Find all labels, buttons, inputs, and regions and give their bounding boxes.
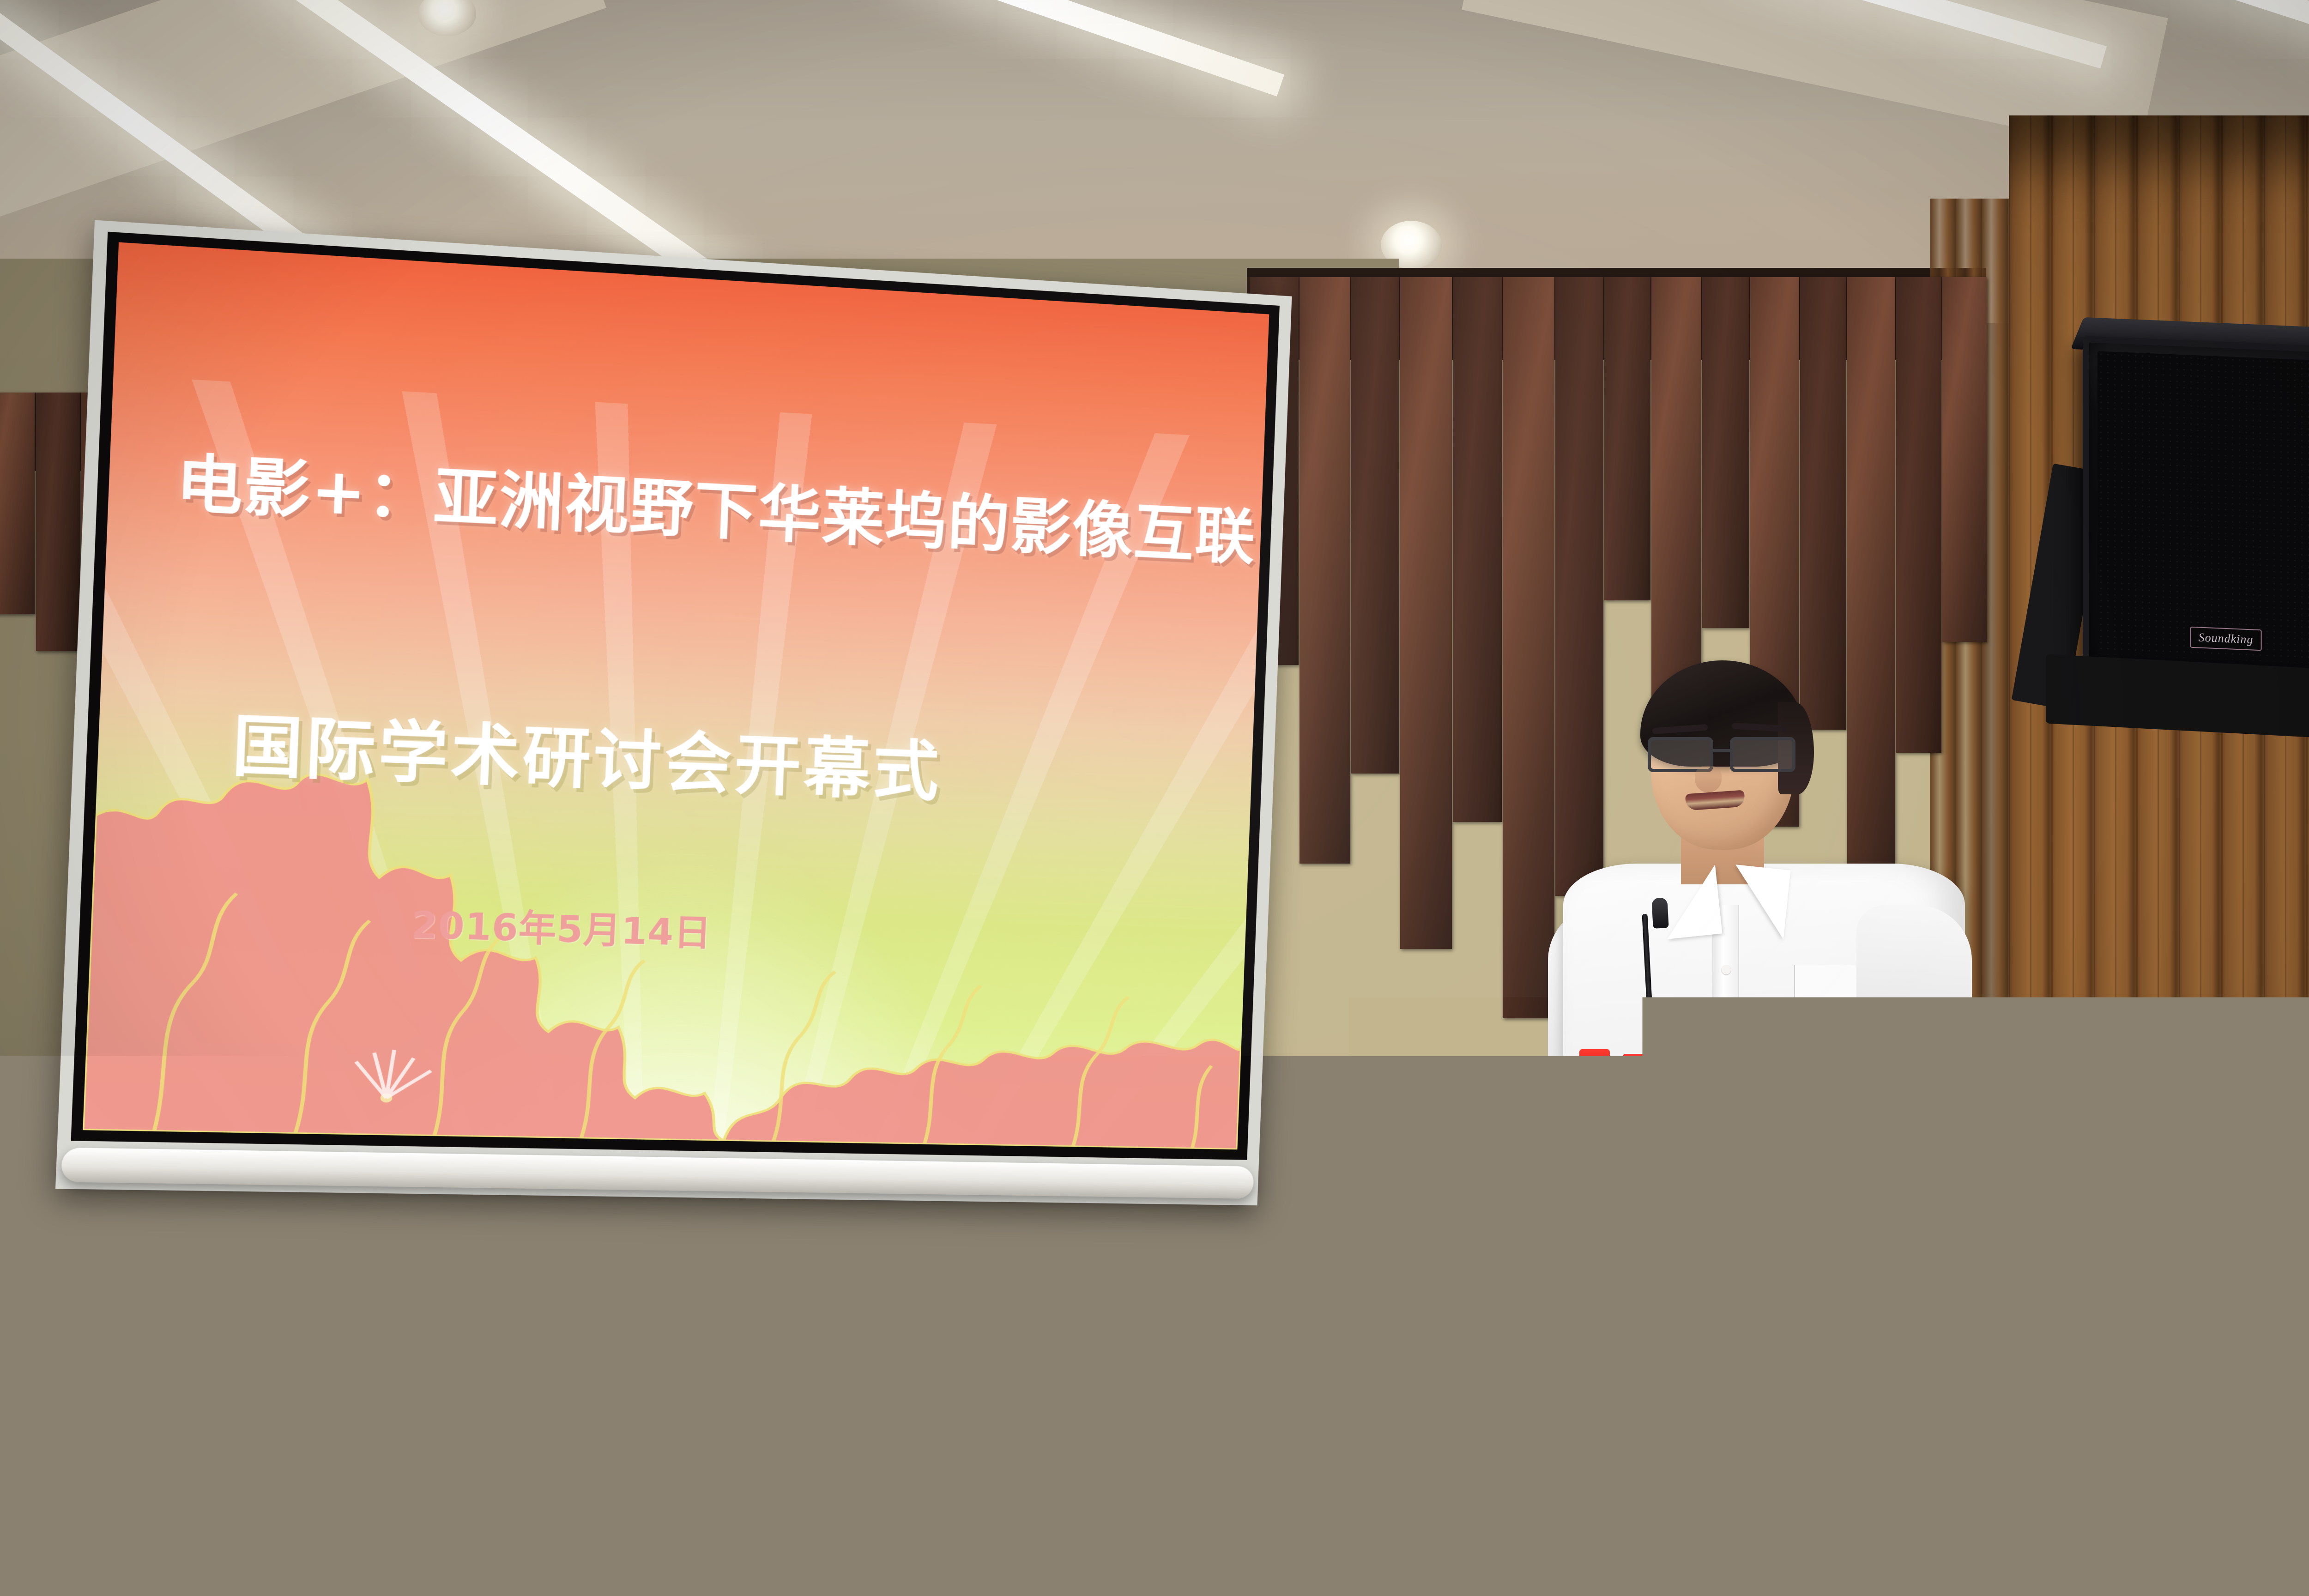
vent-slot — [1515, 1220, 1591, 1230]
nameplate-logos: 华莱坞研究中心 HUALLYWOOD RESEARCH CENTER 中国传媒大… — [1838, 1073, 2020, 1095]
pa-speaker-grille — [2097, 351, 2309, 665]
pa-speaker-cabinet: Soundking — [2083, 336, 2309, 680]
wall-slat-l2 — [36, 393, 80, 651]
eyeglasses — [1648, 737, 1800, 773]
vent-slot — [2147, 1219, 2224, 1229]
slide-date: 2016年5月14日 — [410, 895, 713, 956]
shirt-collar-right — [1728, 864, 1790, 939]
vent-slot — [1521, 1235, 1590, 1245]
wall-slat-r2 — [1300, 277, 1350, 864]
wall-slat-r15 — [1942, 277, 1987, 642]
wall-slat-l1 — [0, 393, 35, 614]
shirt-collar-left — [1660, 864, 1722, 939]
huallywood-mark-icon — [1854, 1075, 1867, 1087]
wall-slat-r8 — [1604, 277, 1650, 600]
pa-speaker-brand-logo: Soundking — [2190, 627, 2262, 651]
organization-logo-right: 中国传媒大学 COMMUNICATION UNIVERSITY — [1934, 1077, 2004, 1094]
bottle-cap — [1579, 1049, 1610, 1070]
wall-slat-r10 — [1702, 277, 1749, 628]
wall-slat-r4 — [1400, 277, 1452, 949]
university-mark-icon — [1934, 1077, 1958, 1092]
gooseneck-microphone-head — [1651, 897, 1668, 929]
lectern-vent-right — [2147, 1203, 2235, 1262]
projection-screen: 电影+：亚洲视野下华莱坞的影像互联 国际学术研讨会开幕式 2016年5月14日 — [55, 220, 1292, 1206]
foreground-dark-object-right — [2198, 1316, 2309, 1596]
organization-logo-left: 华莱坞研究中心 HUALLYWOOD RESEARCH CENTER — [1854, 1075, 1922, 1090]
lectern-vent-left — [1508, 1203, 1596, 1262]
wall-slat-r5 — [1453, 277, 1502, 822]
shirt-button-2 — [1722, 1053, 1731, 1062]
vent-slot — [2147, 1235, 2217, 1245]
stage-seam-2 — [656, 1331, 659, 1471]
organization-logo-right-text: 中国传媒大学 COMMUNICATION UNIVERSITY — [1961, 1081, 2004, 1091]
screen-black-border: 电影+：亚洲视野下华莱坞的影像互联 国际学术研讨会开幕式 2016年5月14日 — [71, 232, 1279, 1160]
wall-slat-r3 — [1351, 277, 1399, 774]
lectern-center-flap — [1697, 1126, 2048, 1274]
shirt-button-1 — [1722, 965, 1731, 974]
presentation-slide: 电影+：亚洲视野下华莱坞的影像互联 国际学术研讨会开幕式 2016年5月14日 — [83, 242, 1269, 1150]
eyeglass-lens-right — [1730, 737, 1795, 772]
organization-logo-left-text: 华莱坞研究中心 HUALLYWOOD RESEARCH CENTER — [1870, 1077, 1922, 1088]
nose — [1695, 766, 1722, 792]
stage-seam-1 — [231, 1307, 234, 1447]
eyeglass-bridge — [1713, 749, 1731, 752]
bottle-cap — [1623, 1054, 1653, 1075]
conference-room-photo: 电影+：亚洲视野下华莱坞的影像互联 国际学术研讨会开幕式 2016年5月14日 … — [0, 0, 2309, 1596]
